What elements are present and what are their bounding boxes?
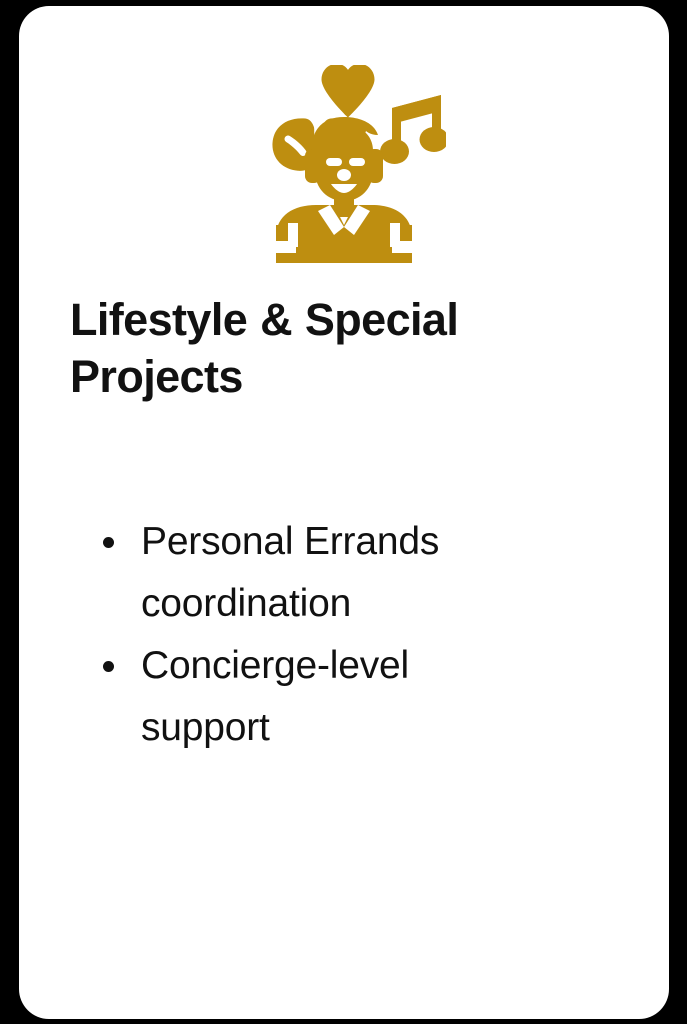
feature-list: Personal Errands coordination Concierge-… bbox=[70, 511, 540, 759]
list-item: Concierge-level support bbox=[70, 635, 540, 759]
card-icon-container bbox=[19, 65, 669, 265]
page-background: Lifestyle & Special Projects Personal Er… bbox=[0, 0, 687, 1024]
card-title: Lifestyle & Special Projects bbox=[70, 291, 550, 405]
list-item: Personal Errands coordination bbox=[70, 511, 540, 635]
music-note-icon bbox=[380, 95, 446, 164]
service-card: Lifestyle & Special Projects Personal Er… bbox=[19, 6, 669, 1019]
bullet-icon bbox=[103, 537, 114, 548]
list-item-label: Concierge-level support bbox=[141, 644, 409, 749]
lifestyle-person-headphones-icon bbox=[242, 65, 446, 263]
list-item-label: Personal Errands coordination bbox=[141, 520, 439, 625]
bullet-icon bbox=[103, 661, 114, 672]
heart-icon bbox=[322, 65, 375, 118]
